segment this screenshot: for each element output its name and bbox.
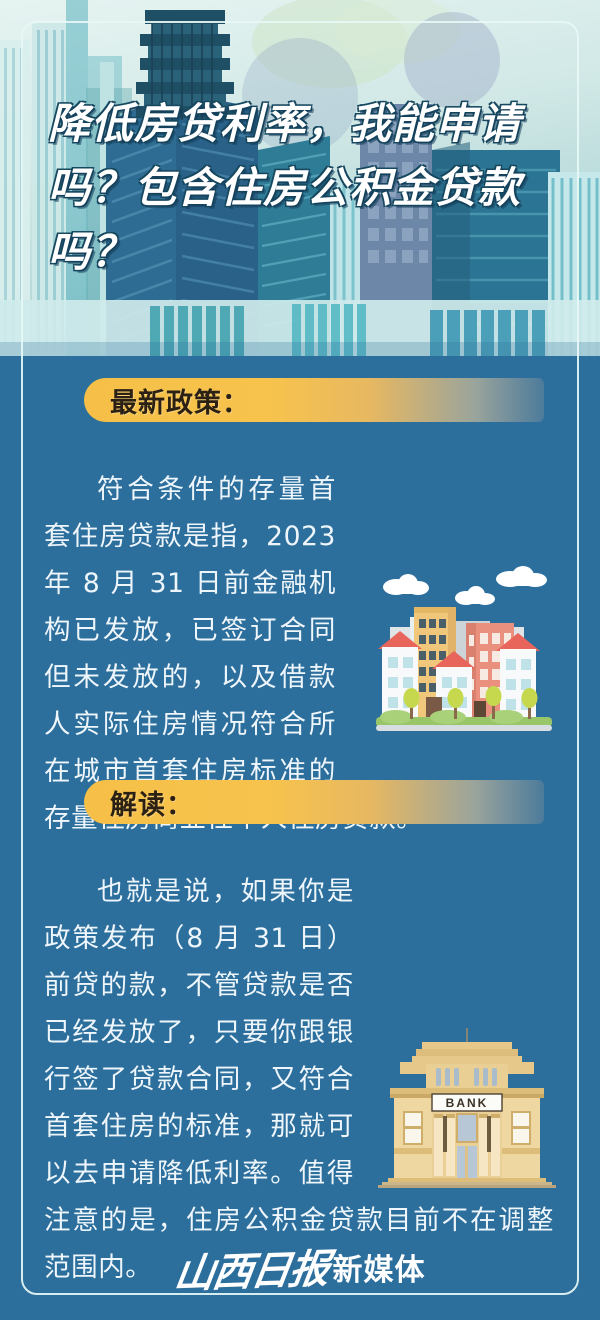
infographic-poster: 降低房贷利率，我能申请吗？包含住房公积金贷款吗？ 最新政策： 符合条件的存量首套… (0, 0, 600, 1320)
logo-calligraphy-text: 山西日报 (171, 1247, 330, 1296)
residential-buildings-icon (370, 565, 565, 745)
bank-building-icon: BANK (372, 1028, 562, 1196)
section-heading-interpretation: 解读： (84, 780, 544, 824)
section-heading-latest-policy: 最新政策： (84, 378, 544, 422)
logo-suffix-text: 新媒体 (333, 1250, 426, 1294)
section-heading-label-1: 最新政策： (84, 381, 250, 420)
poster-title: 降低房贷利率，我能申请吗？包含住房公积金贷款吗？ (48, 92, 548, 284)
footer-logo: 山西日报 新媒体 (0, 1250, 600, 1294)
bank-sign-text: BANK (446, 1096, 489, 1110)
section-heading-label-2: 解读： (84, 783, 194, 822)
